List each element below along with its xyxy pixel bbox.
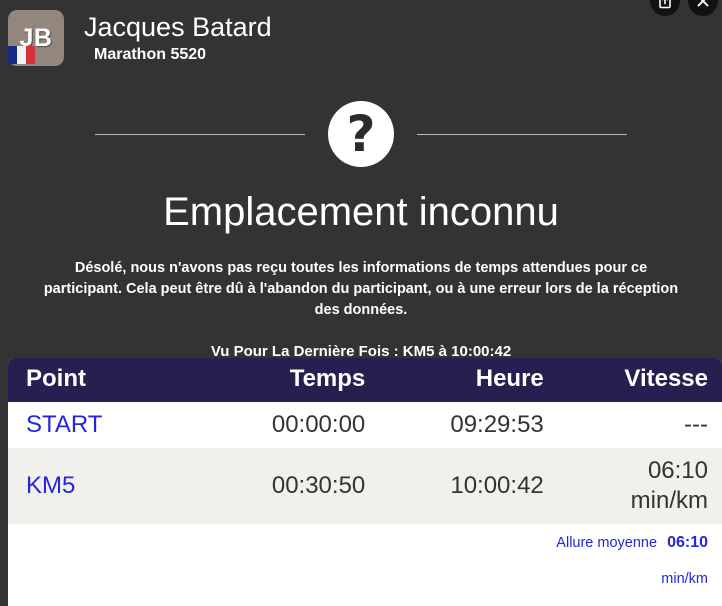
column-header-heure: Heure [379, 358, 558, 402]
row-heure: 10:00:42 [379, 448, 558, 524]
row-vitesse: --- [558, 402, 722, 448]
splits-table: Point Temps Heure Vitesse START 00:00:00… [8, 358, 722, 524]
row-point: KM5 [8, 448, 201, 524]
share-icon [657, 0, 673, 9]
athlete-name: Jacques Batard [84, 10, 272, 44]
row-temps: 00:00:00 [201, 402, 380, 448]
status-block: ? Emplacement inconnu Désolé, nous n'avo… [0, 72, 722, 363]
row-vitesse-value: --- [572, 410, 708, 440]
close-icon [695, 0, 711, 9]
row-vitesse-unit: min/km [572, 486, 708, 516]
split-link-start[interactable]: START [26, 411, 102, 438]
column-header-point: Point [8, 358, 201, 402]
row-vitesse: 06:10 min/km [558, 448, 722, 524]
row-temps: 00:30:50 [201, 448, 380, 524]
table-row: KM5 00:30:50 10:00:42 06:10 min/km [8, 448, 722, 524]
divider-right [417, 134, 627, 135]
average-pace-value: 06:10 [667, 534, 708, 551]
average-pace-unit: min/km [8, 568, 708, 590]
window-controls [650, 0, 718, 16]
average-pace: Allure moyenne 06:10 min/km [8, 524, 722, 590]
avatar: JB [8, 10, 64, 66]
average-pace-label: Allure moyenne [556, 535, 657, 551]
athlete-event: Marathon 5520 [84, 44, 272, 66]
column-header-vitesse: Vitesse [558, 358, 722, 402]
status-description: Désolé, nous n'avons pas reçu toutes les… [36, 258, 686, 321]
row-point: START [8, 402, 201, 448]
share-button[interactable] [650, 0, 680, 16]
divider-left [95, 134, 305, 135]
question-mark-icon: ? [328, 101, 394, 167]
athlete-info: Jacques Batard Marathon 5520 [84, 8, 272, 66]
split-link-km5[interactable]: KM5 [26, 472, 75, 499]
table-row: START 00:00:00 09:29:53 --- [8, 402, 722, 448]
table-header-row: Point Temps Heure Vitesse [8, 358, 722, 402]
status-title: Emplacement inconnu [0, 186, 722, 238]
athlete-header: JB Jacques Batard Marathon 5520 [0, 0, 722, 72]
row-vitesse-value: 06:10 [572, 456, 708, 486]
close-button[interactable] [688, 0, 718, 16]
column-header-temps: Temps [201, 358, 380, 402]
row-heure: 09:29:53 [379, 402, 558, 448]
status-icon-row: ? [0, 100, 722, 168]
france-flag-icon [8, 46, 35, 64]
splits-card: Point Temps Heure Vitesse START 00:00:00… [8, 358, 722, 606]
